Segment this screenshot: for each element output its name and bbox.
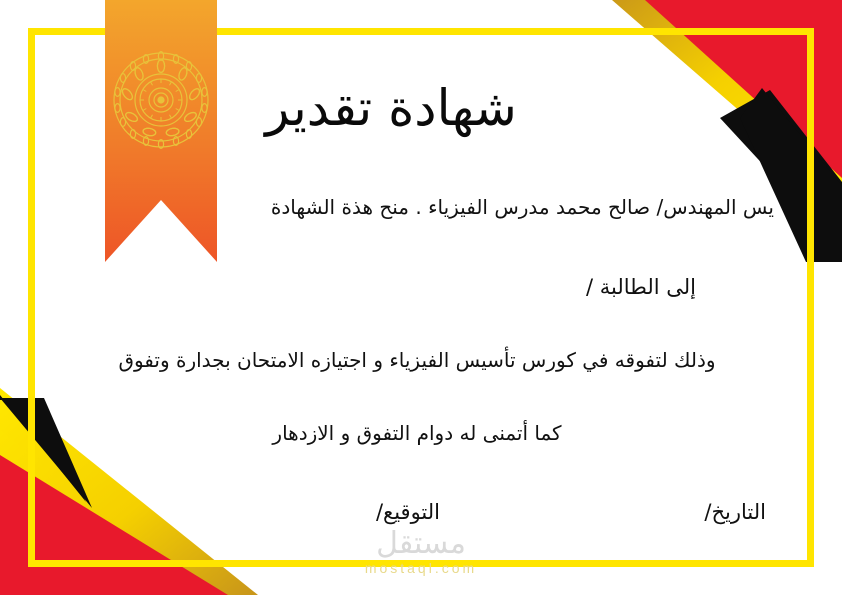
body-line-reason: وذلك لتفوقه في كورس تأسيس الفيزياء و اجت… [60, 345, 774, 375]
body-line-recipient: إلى الطالبة / [586, 272, 696, 304]
body-line-awarder: يس المهندس/ صالح محمد مدرس الفيزياء . من… [271, 192, 774, 222]
certificate-title: شهادة تقدير [50, 82, 792, 135]
certificate-content: شهادة تقدير يس المهندس/ صالح محمد مدرس ا… [50, 40, 792, 555]
signature-row: التاريخ/ التوقيع/ [50, 500, 792, 540]
body-line-wishes: كما أتمنى له دوام التفوق و الازدهار [60, 418, 774, 448]
signature-label: التوقيع/ [376, 500, 440, 524]
date-label: التاريخ/ [704, 500, 766, 524]
certificate-page: شهادة تقدير يس المهندس/ صالح محمد مدرس ا… [0, 0, 842, 595]
